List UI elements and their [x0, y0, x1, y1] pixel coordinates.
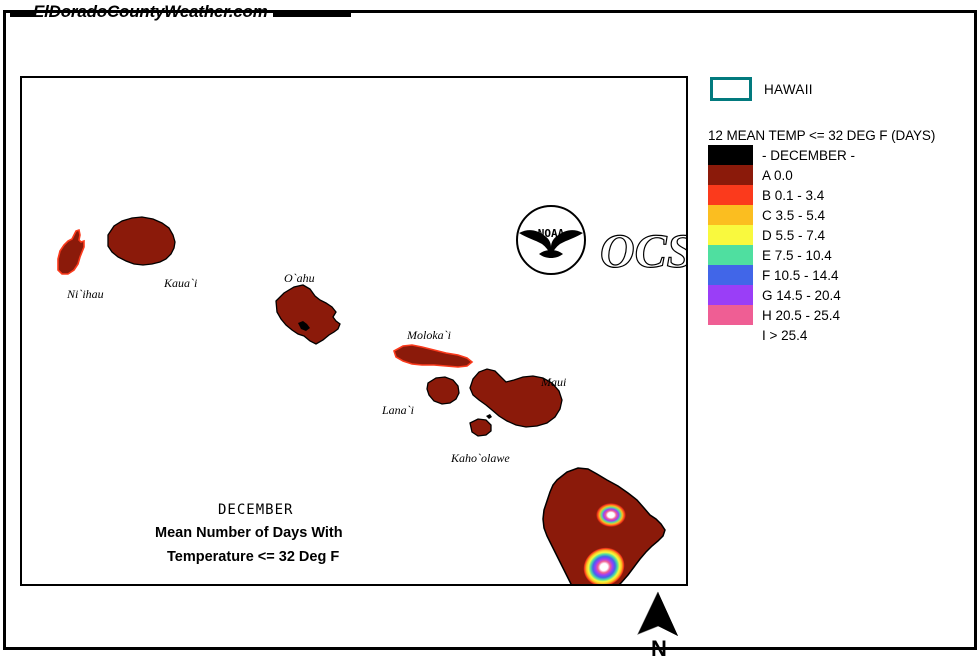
island-hawaii: [543, 468, 665, 584]
island-kauai: [108, 217, 175, 265]
island-molokai: [394, 345, 472, 367]
legend-swatch-2: [708, 185, 753, 205]
map-title-line-2: Temperature <= 32 Deg F: [167, 549, 339, 565]
site-title: ElDoradoCountyWeather.com: [33, 2, 268, 22]
summit-mauna-kea: [596, 503, 626, 527]
legend-swatch-8: [708, 305, 753, 325]
island-label-oahu: O`ahu: [284, 271, 315, 286]
ocs-logo: OCS: [598, 221, 688, 279]
legend-label-column: - DECEMBER -A 0.0B 0.1 - 3.4C 3.5 - 5.4D…: [762, 146, 855, 346]
header: ElDoradoCountyWeather.com: [0, 0, 980, 30]
legend-area-swatch: [710, 77, 752, 101]
legend-entry-label-0: - DECEMBER -: [762, 146, 855, 166]
island-lanai: [427, 377, 459, 404]
north-arrow: N: [632, 590, 688, 658]
island-kahoolawe: [470, 419, 491, 436]
legend-entry-label-7: G 14.5 - 20.4: [762, 286, 855, 306]
map-title-line-1: Mean Number of Days With: [155, 525, 343, 541]
map-month-label: DECEMBER: [218, 502, 293, 518]
noaa-logo: NOAA: [515, 204, 587, 276]
island-label-kauai: Kaua`i: [164, 276, 197, 291]
island-niihau: [58, 230, 84, 274]
legend-swatch-0: [708, 145, 753, 165]
island-label-molokai: Moloka`i: [407, 328, 451, 343]
island-label-hawaii: Hawai`i: [500, 582, 539, 586]
legend-swatch-5: [708, 245, 753, 265]
legend-entry-label-1: A 0.0: [762, 166, 855, 186]
hawaii-island-map: [22, 78, 686, 584]
island-oahu: [276, 285, 340, 344]
ocs-logo-text: OCS: [600, 225, 688, 278]
island-label-niihau: Ni`ihau: [67, 287, 104, 302]
legend-entry-label-8: H 20.5 - 25.4: [762, 306, 855, 326]
legend-panel: HAWAII 12 MEAN TEMP <= 32 DEG F (DAYS) -…: [706, 72, 968, 362]
legend-swatch-4: [708, 225, 753, 245]
legend-entry-label-9: I > 25.4: [762, 326, 855, 346]
header-rule-left: [10, 13, 34, 17]
north-arrow-label: N: [651, 636, 667, 658]
map-panel[interactable]: Ni`ihau Kaua`i O`ahu Moloka`i Lana`i Kah…: [20, 76, 688, 586]
legend-area-label: HAWAII: [764, 82, 813, 97]
legend-swatch-7: [708, 285, 753, 305]
legend-entry-label-3: C 3.5 - 5.4: [762, 206, 855, 226]
island-label-kahoolawe: Kaho`olawe: [451, 451, 510, 466]
island-label-maui: Maui: [541, 375, 566, 390]
legend-entry-label-4: D 5.5 - 7.4: [762, 226, 855, 246]
legend-entry-label-5: E 7.5 - 10.4: [762, 246, 855, 266]
legend-swatch-1: [708, 165, 753, 185]
island-label-lanai: Lana`i: [382, 403, 414, 418]
legend-swatch-column: [708, 145, 753, 325]
legend-title: 12 MEAN TEMP <= 32 DEG F (DAYS): [708, 128, 935, 143]
header-rule-right: [273, 13, 351, 17]
legend-swatch-3: [708, 205, 753, 225]
legend-swatch-6: [708, 265, 753, 285]
legend-entry-label-2: B 0.1 - 3.4: [762, 186, 855, 206]
legend-entry-label-6: F 10.5 - 14.4: [762, 266, 855, 286]
noaa-logo-text: NOAA: [538, 227, 565, 240]
